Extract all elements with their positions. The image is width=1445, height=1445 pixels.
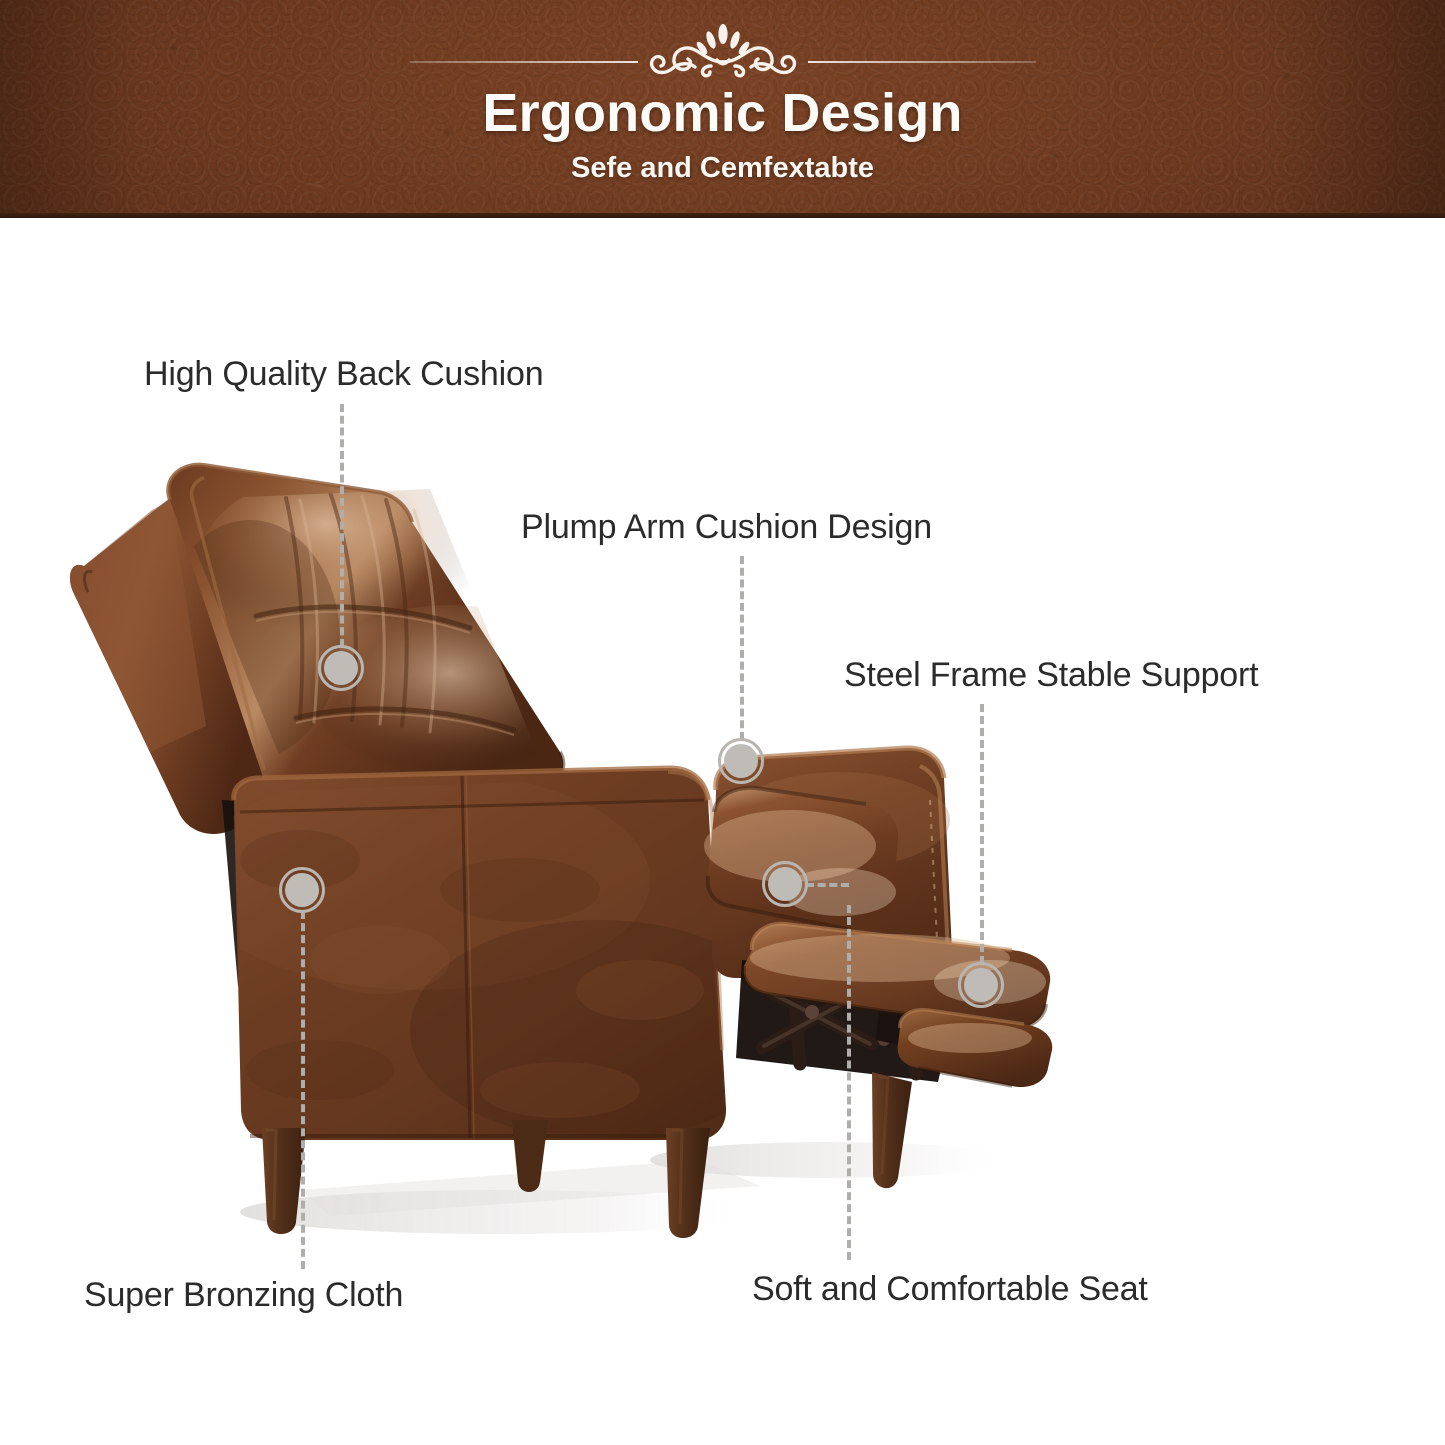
connector-line-arm-cushion	[740, 556, 744, 740]
infographic-page: Ergonomic Design Sefe and Cemfextabte	[0, 0, 1445, 1445]
marker-dot-icon	[324, 651, 358, 685]
marker-arm-cushion[interactable]	[718, 738, 764, 784]
marker-steel-frame[interactable]	[958, 962, 1004, 1008]
marker-bronzing-cloth[interactable]	[279, 867, 325, 913]
recliner-chair-image	[0, 0, 1445, 1445]
connector-line-seat	[847, 905, 851, 1260]
callout-label-back-cushion: High Quality Back Cushion	[144, 355, 543, 394]
callout-label-seat: Soft and Comfortable Seat	[752, 1270, 1148, 1309]
callout-label-steel-frame: Steel Frame Stable Support	[844, 656, 1258, 695]
marker-seat[interactable]	[762, 861, 808, 907]
marker-dot-icon	[964, 968, 998, 1002]
marker-dot-icon	[285, 873, 319, 907]
callout-label-arm-cushion: Plump Arm Cushion Design	[521, 508, 932, 547]
marker-dot-icon	[724, 744, 758, 778]
marker-back-cushion[interactable]	[318, 645, 364, 691]
connector-line-back-cushion	[340, 404, 344, 647]
connector-line-steel-frame	[980, 704, 984, 964]
connector-elbow-seat	[806, 883, 849, 887]
side-panel-bronzing-cloth	[190, 768, 790, 1140]
connector-line-bronzing-cloth	[301, 911, 305, 1269]
marker-dot-icon	[768, 867, 802, 901]
callout-label-bronzing-cloth: Super Bronzing Cloth	[84, 1276, 403, 1315]
